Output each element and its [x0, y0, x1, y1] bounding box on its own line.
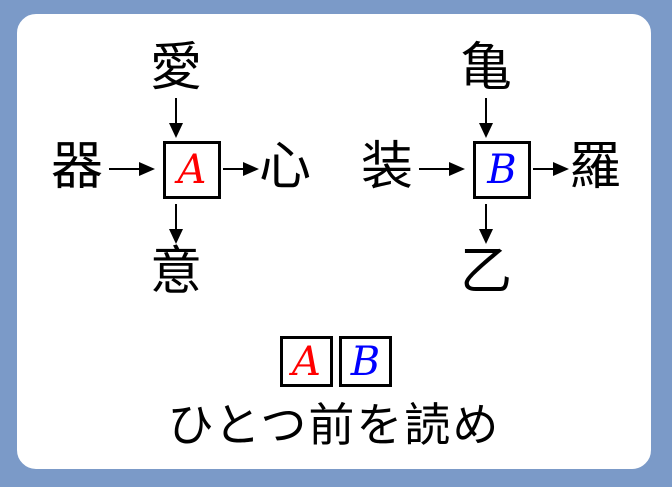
legend-box-a: A [280, 336, 333, 387]
left-diagram-top-kanji: 愛 [148, 42, 204, 94]
left-diagram-arrow-right-icon [223, 154, 259, 184]
slide-frame: 愛 器 A 心 [0, 0, 672, 487]
left-diagram-arrow-bottom-down-icon [164, 204, 188, 244]
legend-letter-b: B [351, 342, 380, 382]
card-inner-edge [23, 20, 645, 463]
right-diagram-top-kanji: 亀 [458, 42, 514, 94]
left-diagram-bottom-kanji: 意 [148, 246, 204, 298]
right-diagram-bottom-kanji: 乙 [458, 246, 514, 298]
right-diagram-arrow-bottom-down-icon [474, 204, 498, 244]
slide-card: 愛 器 A 心 [14, 11, 654, 472]
legend-letter-a: A [292, 342, 321, 382]
left-diagram-center-box: A [163, 141, 221, 199]
left-diagram-arrow-top-down-icon [164, 98, 188, 138]
right-diagram-arrow-left-right-icon [419, 154, 465, 184]
legend-box-b: B [339, 336, 392, 387]
instruction-caption: ひとつ前を読め [17, 402, 651, 448]
right-diagram-left-kanji: 装 [359, 141, 415, 193]
left-diagram-right-kanji: 心 [257, 141, 313, 193]
right-diagram-right-kanji: 羅 [567, 141, 623, 193]
right-diagram-center-letter: B [487, 150, 516, 190]
left-diagram-left-kanji: 器 [49, 141, 105, 193]
right-diagram-center-box: B [473, 141, 531, 199]
left-diagram-center-letter: A [178, 150, 207, 190]
left-diagram-arrow-left-right-icon [109, 154, 155, 184]
right-diagram-arrow-right-icon [533, 154, 569, 184]
right-diagram-arrow-top-down-icon [474, 98, 498, 138]
